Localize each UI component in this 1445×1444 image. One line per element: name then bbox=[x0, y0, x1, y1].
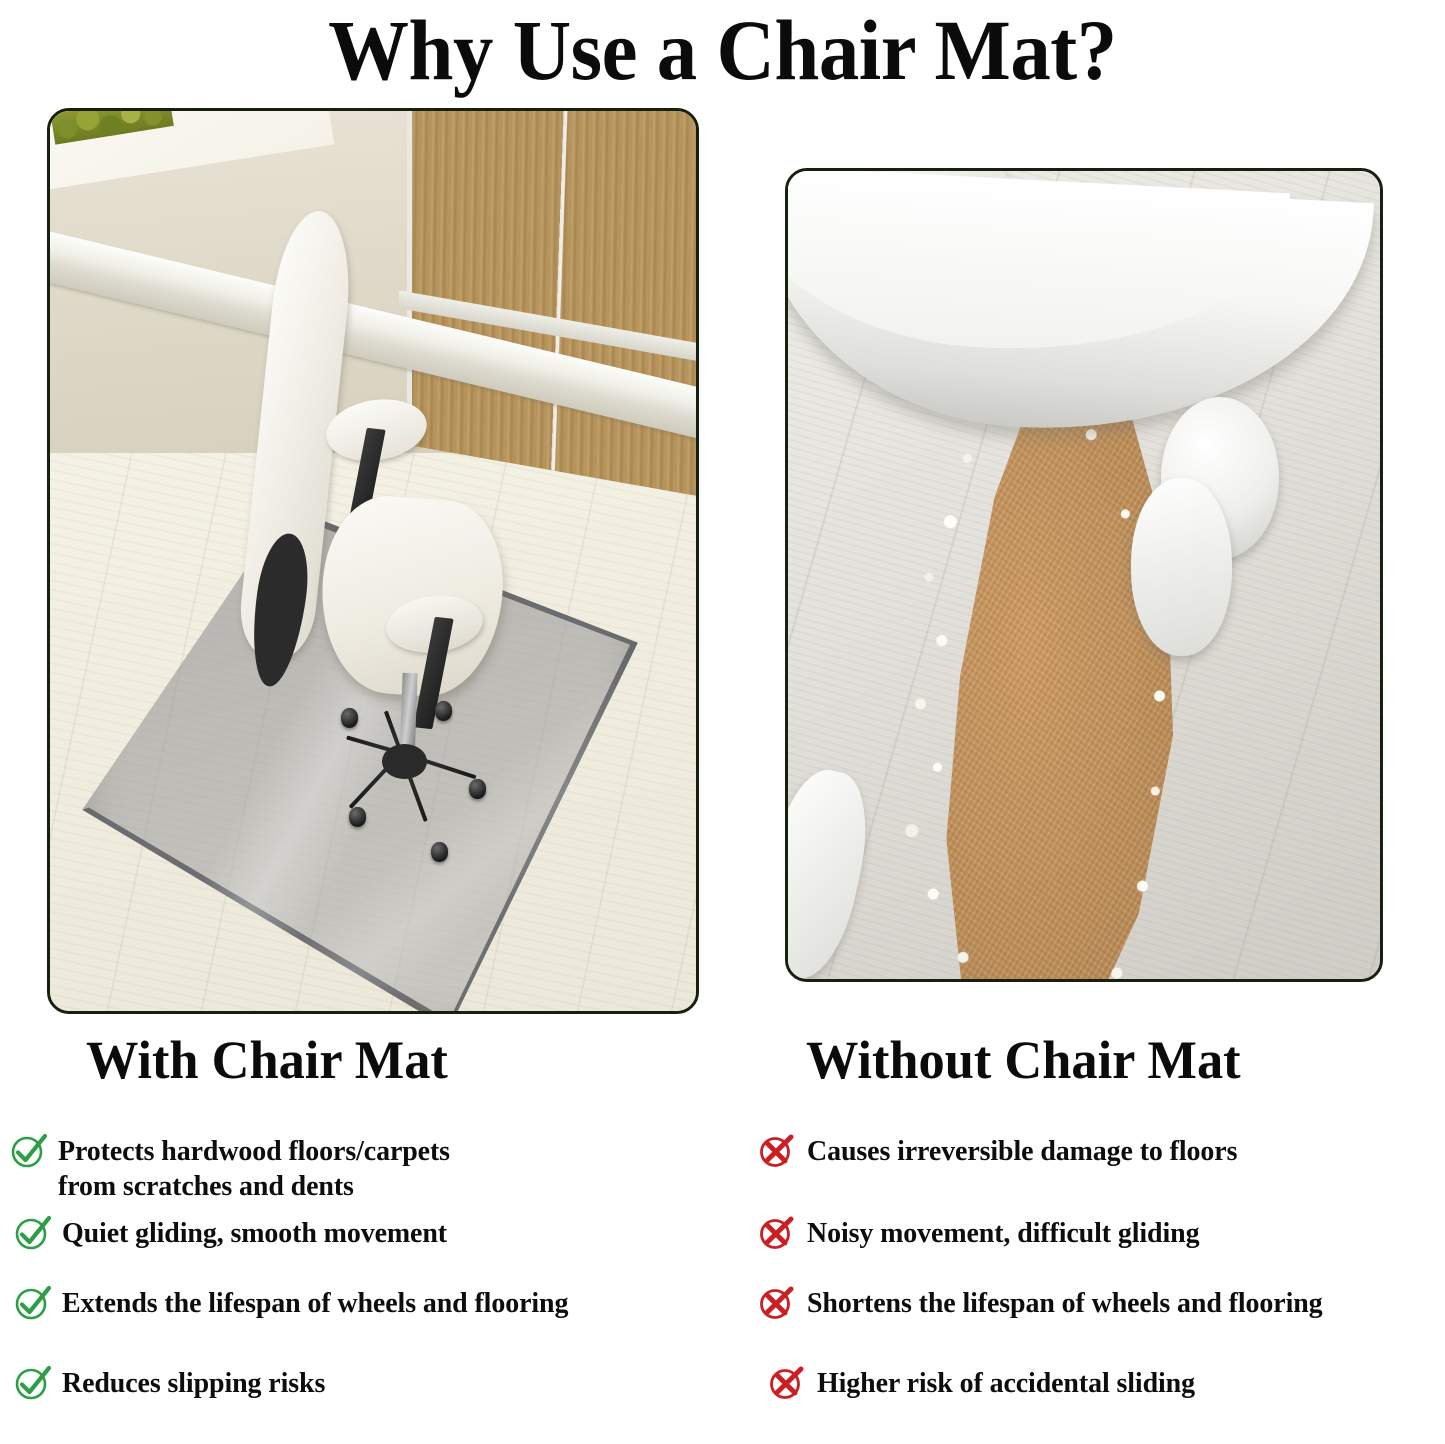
chair-caster-right-lower bbox=[1131, 478, 1232, 656]
check-circle-icon bbox=[12, 1283, 52, 1323]
check-circle-icon bbox=[12, 1213, 52, 1253]
comparison-photo-row bbox=[0, 100, 1445, 1025]
chair-caster bbox=[341, 708, 358, 728]
list-item-label: Causes irreversible damage to floors bbox=[807, 1133, 1237, 1170]
list-item-label: Protects hardwood floors/carpets from sc… bbox=[58, 1133, 450, 1205]
chair-caster bbox=[435, 701, 452, 721]
list-item-label: Reduces slipping risks bbox=[62, 1365, 325, 1402]
list-item-label: Extends the lifespan of wheels and floor… bbox=[62, 1285, 568, 1322]
chair-base-hub bbox=[382, 744, 427, 779]
list-item: Quiet gliding, smooth movement bbox=[12, 1215, 455, 1253]
chair-caster bbox=[469, 779, 486, 799]
check-circle-icon bbox=[12, 1363, 52, 1403]
room-scene-with-mat bbox=[50, 111, 696, 1011]
list-item: Causes irreversible damage to floors bbox=[757, 1133, 1246, 1171]
list-item: Reduces slipping risks bbox=[12, 1365, 331, 1403]
list-item-label: Quiet gliding, smooth movement bbox=[62, 1215, 447, 1252]
list-item: Protects hardwood floors/carpets from sc… bbox=[8, 1133, 458, 1205]
comparison-headings: With Chair Mat Without Chair Mat bbox=[0, 1025, 1445, 1103]
check-circle-icon bbox=[8, 1131, 48, 1171]
chair-seat bbox=[316, 492, 509, 701]
chair-caster bbox=[431, 842, 448, 862]
page-title: Why Use a Chair Mat? bbox=[328, 7, 1117, 93]
list-item: Higher risk of accidental sliding bbox=[767, 1365, 1203, 1403]
photo-without-chair-mat bbox=[785, 168, 1383, 982]
list-item-label: Shortens the lifespan of wheels and floo… bbox=[807, 1285, 1323, 1322]
cross-circle-icon bbox=[767, 1363, 807, 1403]
list-item: Extends the lifespan of wheels and floor… bbox=[12, 1285, 579, 1323]
list-item-label: Higher risk of accidental sliding bbox=[817, 1365, 1195, 1402]
cross-circle-icon bbox=[757, 1283, 797, 1323]
chair-caster bbox=[349, 807, 366, 827]
cross-circle-icon bbox=[757, 1131, 797, 1171]
damaged-floor-scene bbox=[788, 171, 1380, 979]
comparison-bullet-lists: Protects hardwood floors/carpets from sc… bbox=[0, 1103, 1445, 1433]
list-item: Shortens the lifespan of wheels and floo… bbox=[757, 1285, 1333, 1323]
list-item-label: Noisy movement, difficult gliding bbox=[807, 1215, 1199, 1252]
photo-with-chair-mat bbox=[47, 108, 699, 1014]
page-header: Why Use a Chair Mat? bbox=[0, 0, 1445, 100]
office-chair bbox=[244, 210, 619, 912]
heading-without-chair-mat: Without Chair Mat bbox=[806, 1033, 1241, 1087]
list-item: Noisy movement, difficult gliding bbox=[757, 1215, 1207, 1253]
cross-circle-icon bbox=[757, 1213, 797, 1253]
heading-with-chair-mat: With Chair Mat bbox=[86, 1033, 448, 1087]
